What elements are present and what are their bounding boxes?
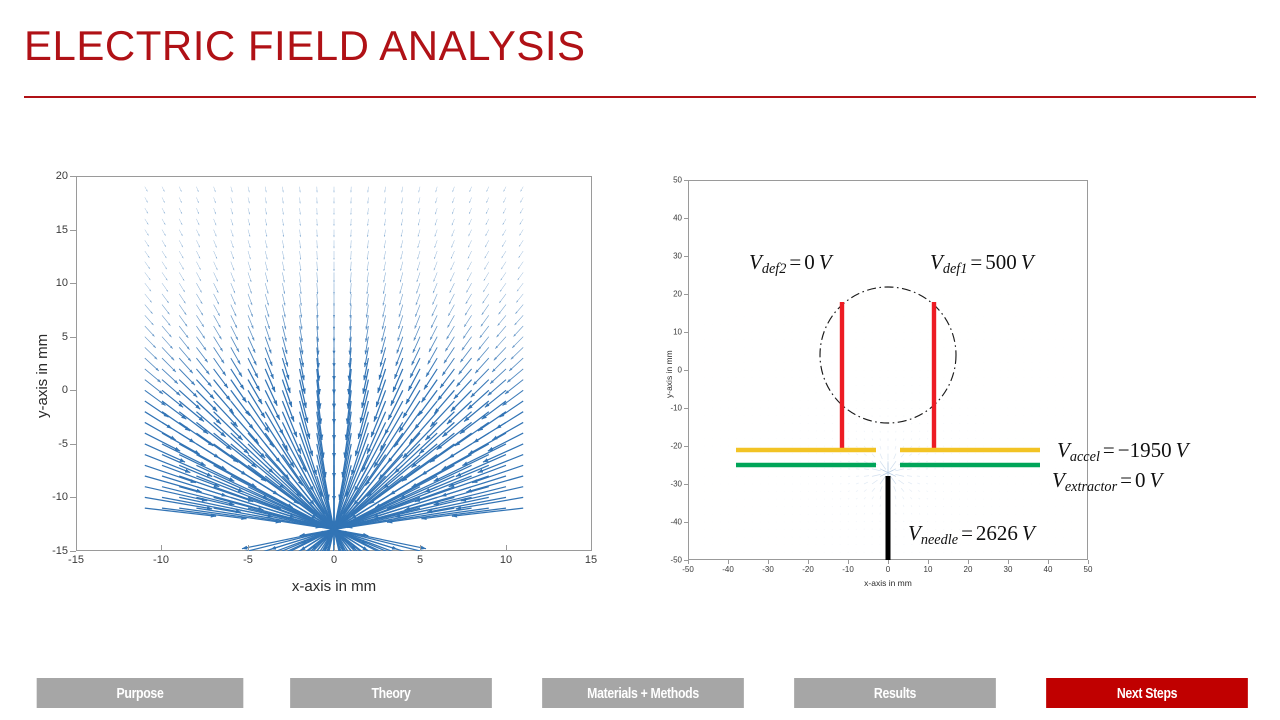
- right-ytick-label: 20: [662, 290, 682, 299]
- right-ytick-label: 30: [662, 252, 682, 261]
- nav-tab-purpose[interactable]: Purpose: [37, 678, 244, 708]
- right-xtick: [848, 560, 849, 564]
- v-def1-value: 500: [985, 250, 1017, 274]
- right-xtick: [1088, 560, 1089, 564]
- right-ytick: [684, 370, 688, 371]
- left-ytick: [70, 283, 76, 284]
- right-xtick-label: 40: [1044, 565, 1053, 574]
- left-xtick-label: 5: [417, 554, 423, 566]
- v-def2-symbol: V: [749, 250, 762, 274]
- right-xtick: [968, 560, 969, 564]
- nav-tab-label: Theory: [371, 685, 410, 702]
- nav-tab-theory[interactable]: Theory: [290, 678, 492, 708]
- v-def2-unit: V: [815, 250, 832, 274]
- right-ytick: [684, 446, 688, 447]
- annotation-v-extractor: Vextractor=0V: [1052, 468, 1162, 496]
- left-xtick: [420, 545, 421, 551]
- right-ytick: [684, 256, 688, 257]
- annotation-v-def1: Vdef1=500V: [930, 250, 1034, 278]
- v-accel-unit: V: [1172, 438, 1189, 462]
- left-ytick-label: 10: [42, 277, 68, 289]
- title-divider: [24, 96, 1256, 98]
- right-ytick-label: -50: [662, 556, 682, 565]
- right-ytick-label: -20: [662, 442, 682, 451]
- left-xtick-label: -5: [243, 554, 253, 566]
- left-xtick-label: -15: [68, 554, 84, 566]
- left-xtick-label: 0: [331, 554, 337, 566]
- left-xtick: [248, 545, 249, 551]
- right-ytick: [684, 484, 688, 485]
- right-xtick-label: 10: [924, 565, 933, 574]
- right-xtick: [808, 560, 809, 564]
- right-ytick-label: 10: [662, 328, 682, 337]
- right-ytick: [684, 180, 688, 181]
- left-xtick-label: -10: [153, 554, 169, 566]
- v-needle-symbol: V: [908, 521, 921, 545]
- section-navigation: Purpose Theory Materials + Methods Resul…: [0, 678, 1280, 708]
- right-xtick: [688, 560, 689, 564]
- left-ytick-label: 15: [42, 224, 68, 236]
- right-x-axis-title: x-axis in mm: [864, 578, 912, 588]
- left-ytick: [70, 176, 76, 177]
- left-xtick: [161, 545, 162, 551]
- nav-tab-label: Materials + Methods: [587, 685, 699, 702]
- right-ytick: [684, 522, 688, 523]
- left-xtick: [76, 545, 77, 551]
- left-xtick-label: 15: [585, 554, 597, 566]
- left-ytick: [70, 497, 76, 498]
- right-xtick-label: 30: [1004, 565, 1013, 574]
- v-needle-subscript: needle: [921, 532, 958, 548]
- v-extractor-unit: V: [1145, 468, 1162, 492]
- right-ytick: [684, 294, 688, 295]
- left-ytick-label: -5: [42, 438, 68, 450]
- left-ytick: [70, 551, 76, 552]
- right-xtick: [1008, 560, 1009, 564]
- right-xtick-label: 20: [964, 565, 973, 574]
- right-ytick-label: -30: [662, 480, 682, 489]
- right-xtick-label: -20: [802, 565, 814, 574]
- right-ytick-label: -10: [662, 404, 682, 413]
- nav-tab-results[interactable]: Results: [794, 678, 996, 708]
- nav-tab-label: Next Steps: [1117, 685, 1177, 702]
- left-xtick: [506, 545, 507, 551]
- v-extractor-subscript: extractor: [1065, 479, 1117, 495]
- right-xtick: [728, 560, 729, 564]
- left-quiver-vectors: [76, 176, 592, 551]
- left-y-axis-title: y-axis in mm: [34, 334, 51, 418]
- v-def1-unit: V: [1017, 250, 1034, 274]
- right-xtick-label: 0: [886, 565, 890, 574]
- v-def1-symbol: V: [930, 250, 943, 274]
- nav-tab-materials-methods[interactable]: Materials + Methods: [542, 678, 744, 708]
- right-xtick: [928, 560, 929, 564]
- page-title: ELECTRIC FIELD ANALYSIS: [24, 22, 586, 70]
- right-ytick: [684, 218, 688, 219]
- left-x-axis-title: x-axis in mm: [292, 578, 376, 595]
- right-xtick-label: -30: [762, 565, 774, 574]
- left-ytick-label: 20: [42, 170, 68, 182]
- right-xtick-label: -50: [682, 565, 694, 574]
- v-needle-unit: V: [1018, 521, 1035, 545]
- left-ytick: [70, 390, 76, 391]
- right-xtick: [888, 560, 889, 564]
- left-ytick: [70, 230, 76, 231]
- right-ytick: [684, 332, 688, 333]
- right-field-and-electrodes: [688, 180, 1088, 560]
- v-extractor-symbol: V: [1052, 468, 1065, 492]
- right-xtick-label: -10: [842, 565, 854, 574]
- right-xtick: [768, 560, 769, 564]
- left-ytick: [70, 337, 76, 338]
- right-xtick-label: -40: [722, 565, 734, 574]
- right-ytick-label: -40: [662, 518, 682, 527]
- left-ytick: [70, 444, 76, 445]
- annotation-v-needle: Vneedle=2626V: [908, 521, 1035, 549]
- v-extractor-value: 0: [1135, 468, 1146, 492]
- right-y-axis-title: y-axis in mm: [664, 350, 674, 398]
- v-needle-value: 2626: [976, 521, 1018, 545]
- right-ytick-label: 50: [662, 176, 682, 185]
- v-def2-value: 0: [804, 250, 815, 274]
- left-xtick: [334, 545, 335, 551]
- right-xtick: [1048, 560, 1049, 564]
- annotation-v-def2: Vdef2=0V: [749, 250, 832, 278]
- nav-tab-label: Results: [874, 685, 916, 702]
- right-ytick: [684, 560, 688, 561]
- left-xtick-label: 10: [500, 554, 512, 566]
- right-ytick-label: 40: [662, 214, 682, 223]
- annotation-v-accel: Vaccel=−1950V: [1057, 438, 1188, 466]
- v-accel-symbol: V: [1057, 438, 1070, 462]
- left-field-figure: -15 -10 -5 0 5 10 15 20 15 10 5 0 -5 -10…: [46, 160, 626, 600]
- v-def2-subscript: def2: [762, 261, 787, 277]
- nav-tab-next-steps[interactable]: Next Steps: [1046, 678, 1248, 708]
- right-ytick: [684, 408, 688, 409]
- v-def1-subscript: def1: [943, 261, 968, 277]
- left-ytick-label: -15: [42, 545, 68, 557]
- nav-tab-label: Purpose: [117, 685, 164, 702]
- left-xtick: [591, 545, 592, 551]
- left-ytick-label: -10: [42, 491, 68, 503]
- right-xtick-label: 50: [1084, 565, 1093, 574]
- v-accel-subscript: accel: [1070, 449, 1100, 465]
- v-accel-value: −1950: [1118, 438, 1172, 462]
